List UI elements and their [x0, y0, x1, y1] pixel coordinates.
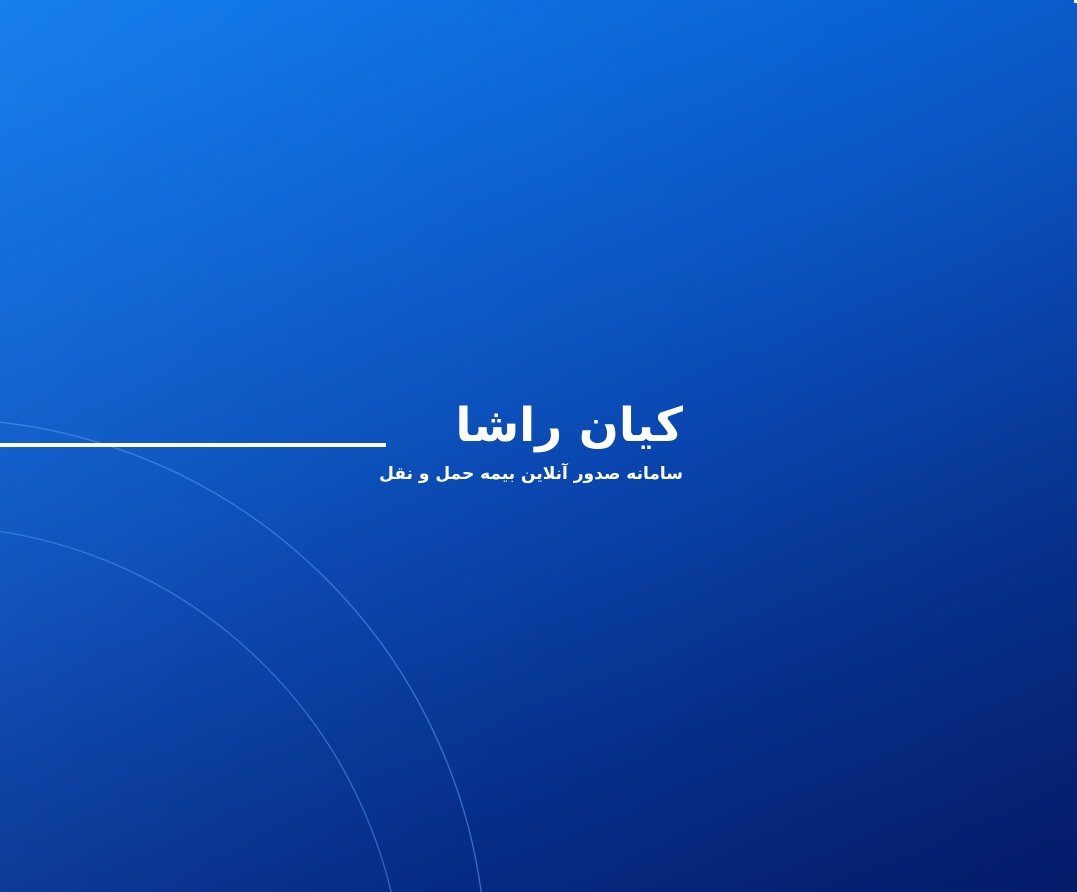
brand-block: کیان راشا سامانه صدور آنلاین بیمه حمل و …	[223, 398, 683, 486]
brand-title: کیان راشا	[223, 398, 683, 453]
outer-circle-arc	[0, 419, 486, 892]
splash-screen: کیان راشا سامانه صدور آنلاین بیمه حمل و …	[0, 0, 1077, 892]
brand-subtitle: سامانه صدور آنلاین بیمه حمل و نقل	[223, 463, 683, 485]
inner-circle-arc	[0, 526, 404, 892]
